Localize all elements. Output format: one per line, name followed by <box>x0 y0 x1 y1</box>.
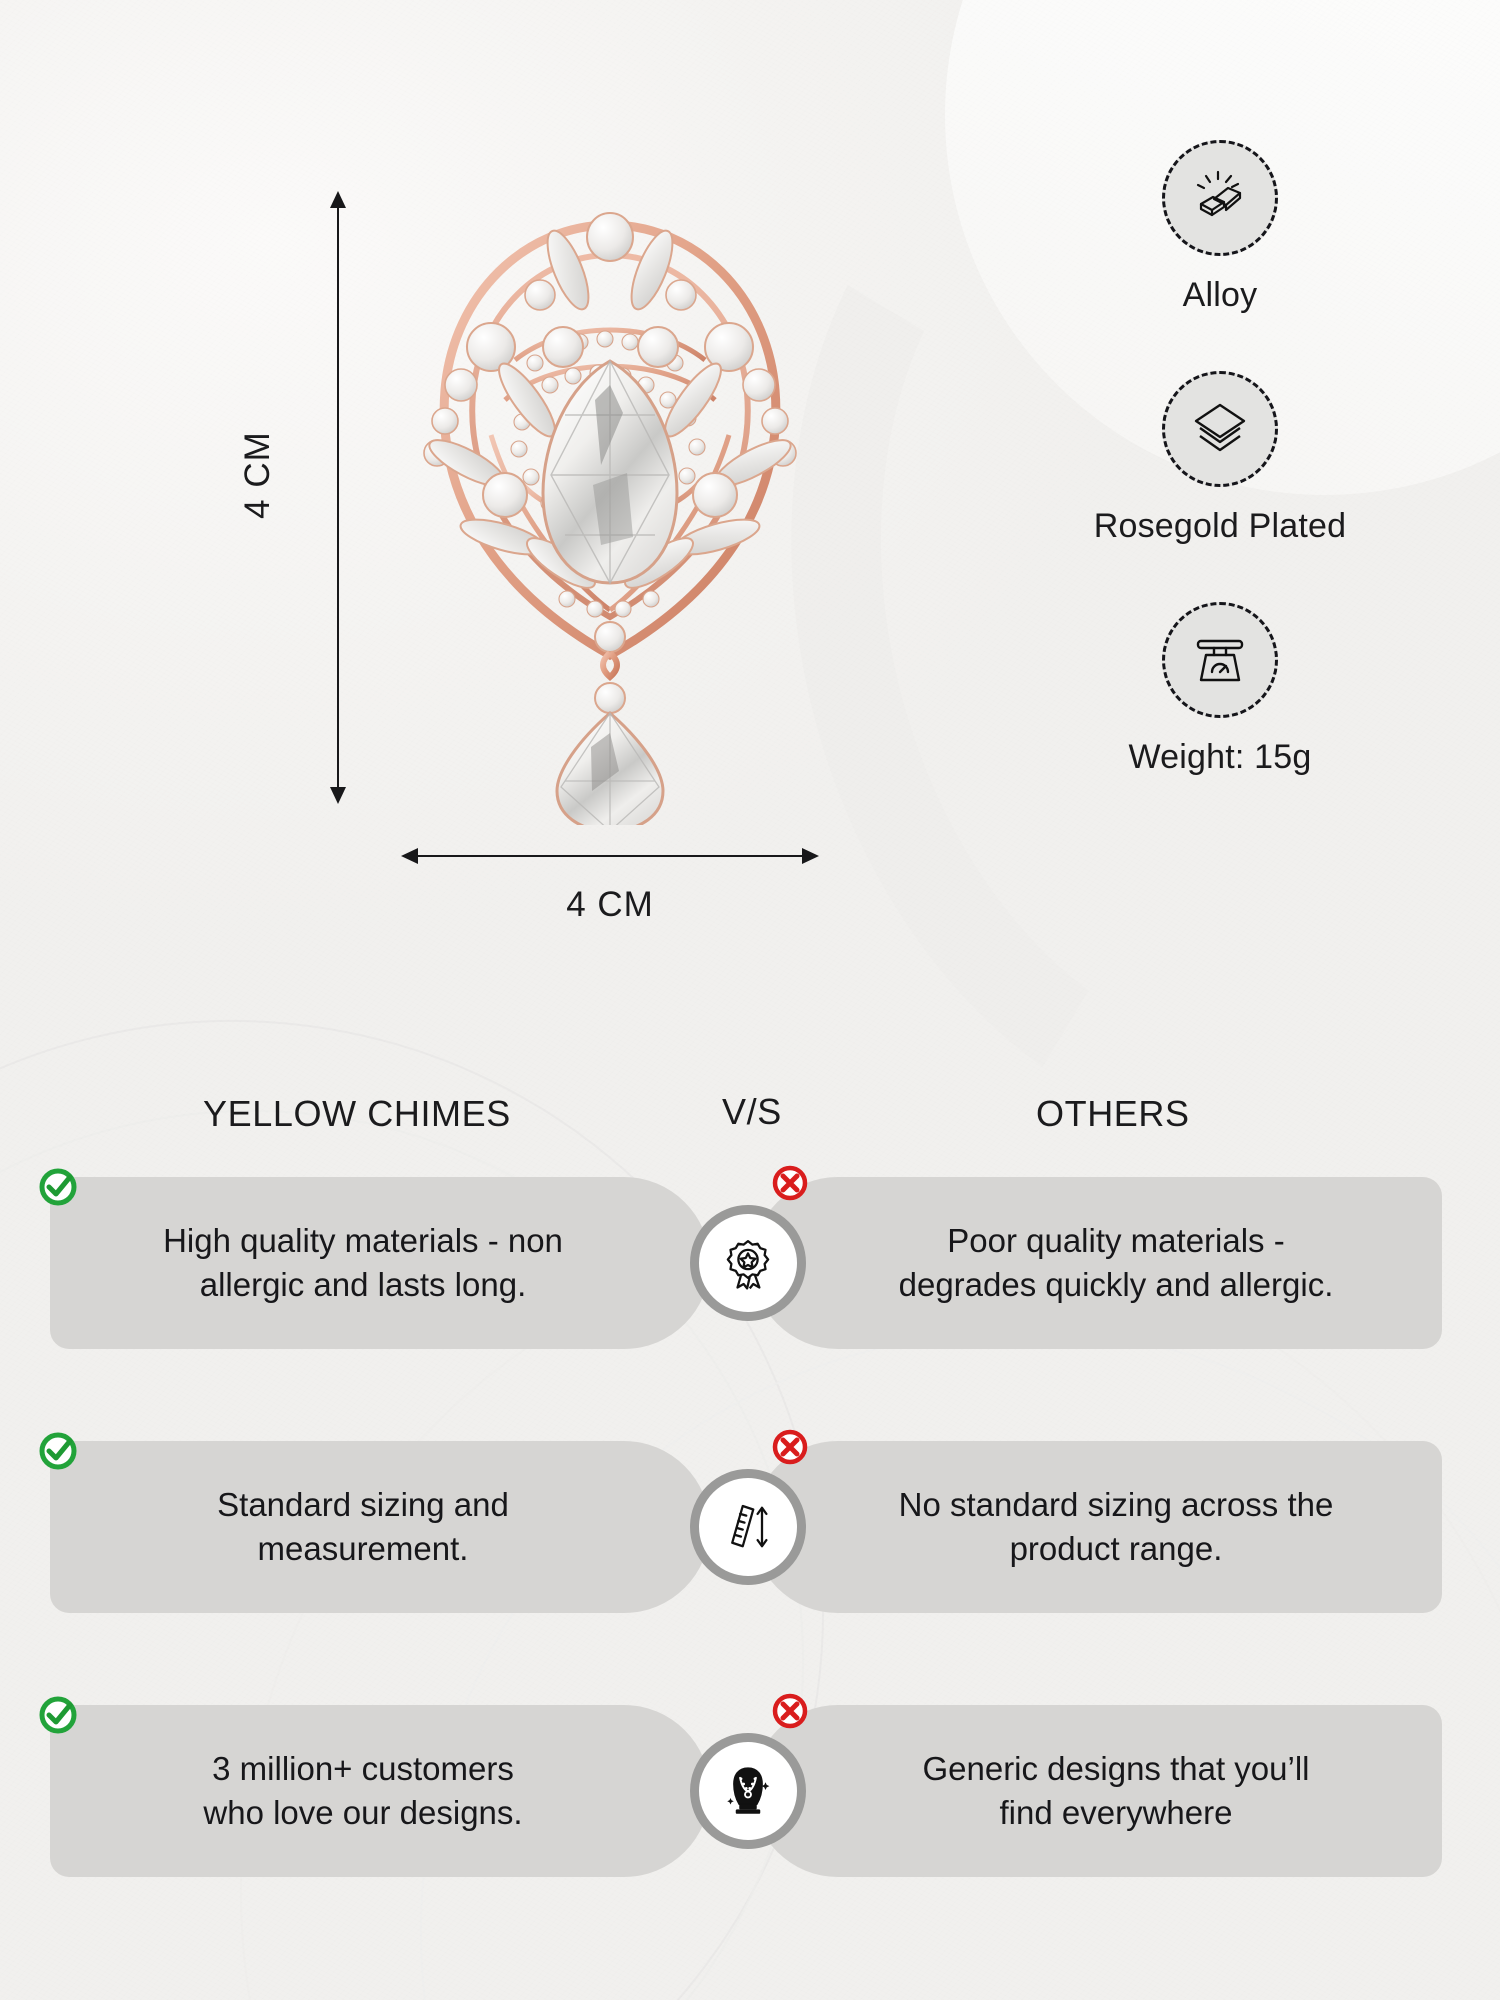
cross-badge-icon <box>768 1161 812 1205</box>
product-dimension-section: 4 CM 4 CM <box>0 0 1500 1050</box>
comparison-row: 3 million+ customers who love our design… <box>0 1691 1500 1903</box>
attribute-alloy: Alloy <box>1010 140 1430 315</box>
attribute-label: Alloy <box>1010 276 1430 315</box>
weighing-scale-icon <box>1162 602 1278 718</box>
award-ribbon-icon <box>690 1205 806 1321</box>
comparison-card-others: No standard sizing across the product ra… <box>752 1441 1442 1613</box>
product-attributes-list: Alloy Rosegold Plated <box>1010 140 1430 833</box>
comparison-heading-brand: YELLOW CHIMES <box>203 1093 511 1135</box>
cross-badge-icon <box>768 1425 812 1469</box>
comparison-card-brand: 3 million+ customers who love our design… <box>50 1705 710 1877</box>
infographic-page: 4 CM 4 CM <box>0 0 1500 2000</box>
height-dimension-label: 4 CM <box>238 431 278 519</box>
comparison-heading-others: OTHERS <box>1036 1093 1190 1135</box>
product-image-brooch <box>395 185 825 825</box>
comparison-row: High quality materials - non allergic an… <box>0 1163 1500 1375</box>
comparison-text-others: Generic designs that you’ll find everywh… <box>884 1747 1309 1835</box>
comparison-text-brand: 3 million+ customers who love our design… <box>203 1747 556 1835</box>
comparison-row: Standard sizing and measurement. No stan… <box>0 1427 1500 1639</box>
attribute-label: Rosegold Plated <box>1010 507 1430 546</box>
attribute-plating: Rosegold Plated <box>1010 371 1430 546</box>
attribute-label: Weight: 15g <box>1010 738 1430 777</box>
comparison-text-others: No standard sizing across the product ra… <box>861 1483 1334 1571</box>
gold-bars-icon <box>1162 140 1278 256</box>
cross-badge-icon <box>768 1689 812 1733</box>
ruler-measure-icon <box>690 1469 806 1585</box>
height-dimension-arrow <box>337 205 339 790</box>
comparison-text-brand: High quality materials - non allergic an… <box>163 1219 597 1307</box>
layers-icon <box>1162 371 1278 487</box>
necklace-bust-icon <box>690 1733 806 1849</box>
check-badge-icon <box>36 1165 80 1209</box>
comparison-card-brand: High quality materials - non allergic an… <box>50 1177 710 1349</box>
attribute-weight: Weight: 15g <box>1010 602 1430 777</box>
comparison-headings: YELLOW CHIMES V/S OTHERS <box>0 1085 1500 1163</box>
check-badge-icon <box>36 1693 80 1737</box>
width-dimension-arrow <box>415 855 805 857</box>
check-badge-icon <box>36 1429 80 1473</box>
comparison-text-others: Poor quality materials - degrades quickl… <box>861 1219 1334 1307</box>
comparison-card-others: Generic designs that you’ll find everywh… <box>752 1705 1442 1877</box>
comparison-card-brand: Standard sizing and measurement. <box>50 1441 710 1613</box>
width-dimension-label: 4 CM <box>415 885 805 925</box>
comparison-heading-vs: V/S <box>722 1091 782 1133</box>
comparison-text-brand: Standard sizing and measurement. <box>217 1483 543 1571</box>
comparison-section: YELLOW CHIMES V/S OTHERS High quality ma… <box>0 1085 1500 1955</box>
comparison-card-others: Poor quality materials - degrades quickl… <box>752 1177 1442 1349</box>
